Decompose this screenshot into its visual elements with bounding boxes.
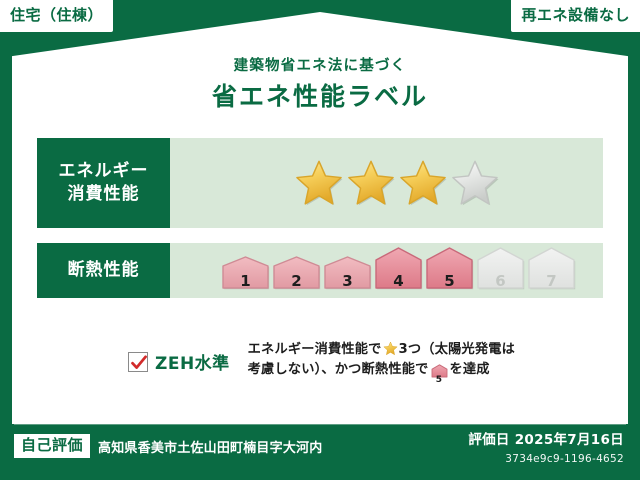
insulation-level-number: 5 <box>425 274 474 289</box>
check-icon <box>129 353 149 373</box>
star-rating <box>294 158 500 208</box>
insulation-level-number: 4 <box>374 274 423 289</box>
insulation-performance-body: 1234567 <box>170 243 603 298</box>
inline-house-badge: 5 <box>431 364 448 385</box>
insulation-performance-row: 断熱性能 1234567 <box>37 243 603 298</box>
energy-performance-row: エネルギー 消費性能 <box>37 138 603 228</box>
zeh-desc-stars: 3つ（太陽光発電 <box>399 342 502 357</box>
label-subtitle: 建築物省エネ法に基づく <box>0 58 640 75</box>
insulation-level-3: 3 <box>323 255 372 294</box>
star-filled-icon <box>398 158 448 208</box>
zeh-desc-pre: エネルギー消費性能で <box>248 342 382 357</box>
label-title: 省エネ性能ラベル <box>0 82 640 112</box>
label-footer: 自己評価 高知県香美市土佐山田町楠目字大河内 評価日 2025年7月16日 37… <box>0 424 640 480</box>
footer-right-group: 評価日 2025年7月16日 3734e9c9-1196-4652 <box>468 432 624 465</box>
badge-renewable-energy: 再エネ設備なし <box>511 0 640 32</box>
insulation-tag-label: 断熱性能 <box>68 259 140 282</box>
evaluation-date: 評価日 2025年7月16日 <box>468 432 624 450</box>
star-empty-icon <box>450 158 500 208</box>
footer-divider <box>14 424 626 425</box>
evaluation-date-value: 2025年7月16日 <box>515 432 624 448</box>
property-address: 高知県香美市土佐山田町楠目字大河内 <box>98 437 322 456</box>
zeh-desc-post: を達成 <box>450 362 490 377</box>
insulation-level-number: 2 <box>272 274 321 289</box>
self-evaluation-badge: 自己評価 <box>14 434 90 458</box>
footer-left-group: 自己評価 高知県香美市土佐山田町楠目字大河内 <box>14 434 322 458</box>
zeh-description: エネルギー消費性能で 3つ（太陽光発電は考慮しない）、かつ断熱性能で 5 を達成 <box>248 340 524 386</box>
insulation-level-5: 5 <box>425 246 474 294</box>
zeh-checkbox-group: ZEH水準 <box>128 340 230 374</box>
evaluation-date-label: 評価日 <box>468 432 509 448</box>
inline-star-icon <box>383 341 398 356</box>
star-filled-icon <box>294 158 344 208</box>
star-filled-icon <box>346 158 396 208</box>
insulation-level-6: 6 <box>476 246 525 294</box>
zeh-checkbox[interactable] <box>128 352 148 372</box>
inline-house-number: 5 <box>431 376 448 385</box>
badge-building-type: 住宅（住棟） <box>0 0 113 32</box>
insulation-level-7: 7 <box>527 246 576 294</box>
insulation-level-number: 1 <box>221 274 270 289</box>
energy-tag-line1: エネルギー <box>59 160 149 183</box>
evaluation-id: 3734e9c9-1196-4652 <box>468 453 624 466</box>
zeh-label: ZEH水準 <box>155 349 230 374</box>
energy-tag-line2: 消費性能 <box>68 183 140 206</box>
energy-performance-label: 住宅（住棟） 再エネ設備なし 建築物省エネ法に基づく 省エネ性能ラベル エネルギ… <box>0 0 640 480</box>
insulation-level-number: 7 <box>527 274 576 289</box>
insulation-level-number: 3 <box>323 274 372 289</box>
energy-performance-body <box>170 138 603 228</box>
insulation-level-1: 1 <box>221 255 270 294</box>
insulation-level-2: 2 <box>272 255 321 294</box>
insulation-performance-tag: 断熱性能 <box>37 243 170 298</box>
energy-performance-tag: エネルギー 消費性能 <box>37 138 170 228</box>
zeh-standard-block: ZEH水準 エネルギー消費性能で 3つ（太陽光発電は考慮しない）、かつ断熱性能で… <box>128 340 524 386</box>
insulation-level-4: 4 <box>374 246 423 294</box>
insulation-house-scale: 1234567 <box>221 248 576 294</box>
insulation-level-number: 6 <box>476 274 525 289</box>
title-block: 建築物省エネ法に基づく 省エネ性能ラベル <box>0 58 640 112</box>
